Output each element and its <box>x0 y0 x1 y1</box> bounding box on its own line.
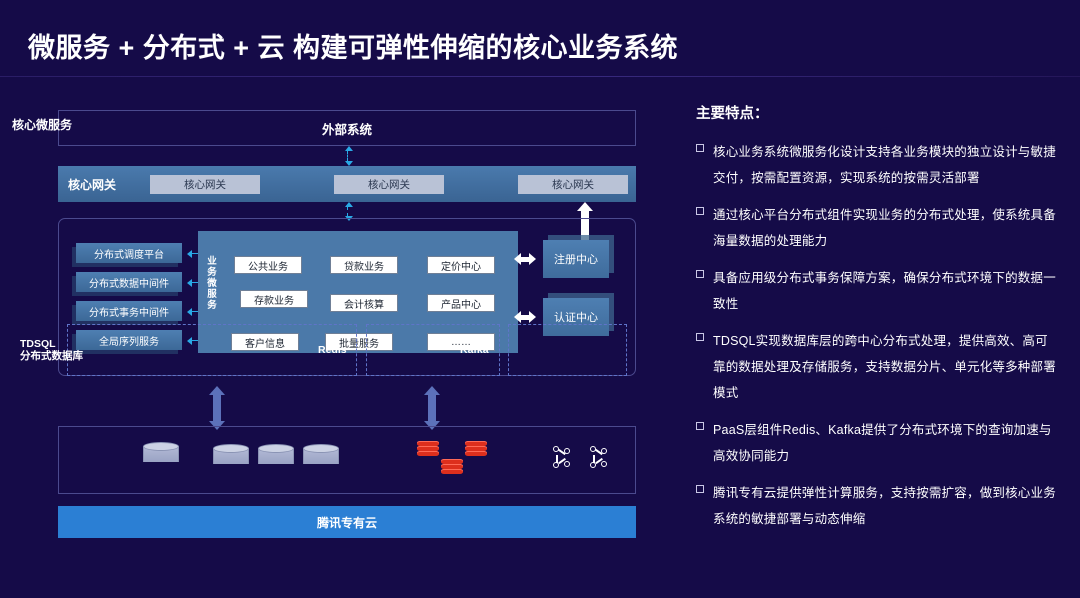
node-dot <box>590 446 596 452</box>
business-microservice-label: 业务微服务 <box>204 256 220 311</box>
cube-layer <box>441 469 463 474</box>
redis-cube-icon <box>417 441 439 461</box>
page-title: 微服务 + 分布式 + 云 构建可弹性伸缩的核心业务系统 <box>28 26 678 65</box>
service-card[interactable]: 产品中心 <box>427 294 495 312</box>
redis-label: Redis <box>318 344 347 356</box>
cylinder-top <box>303 444 339 453</box>
checkbox-bullet-icon <box>696 144 704 152</box>
checkbox-bullet-icon <box>696 485 704 493</box>
slide-canvas: 微服务 + 分布式 + 云 构建可弹性伸缩的核心业务系统 外部系统 核心网关 核… <box>0 0 1080 598</box>
service-card[interactable]: 会计核算 <box>330 294 398 312</box>
node-dot <box>590 462 596 468</box>
tdsql-label: TDSQL 分布式数据库 <box>20 338 83 362</box>
arrow-head-right <box>529 311 536 323</box>
arrow-to-auth-center <box>514 311 536 324</box>
external-systems-label: 外部系统 <box>322 119 372 138</box>
feature-item: TDSQL实现数据库层的跨中心分布式处理，提供高效、高可靠的数据处理及存储服务，… <box>696 328 1056 406</box>
features-title: 主要特点： <box>696 102 1056 123</box>
cylinder-top <box>143 442 179 451</box>
arrow-to-registry-center <box>514 253 536 266</box>
kafka-node-icon <box>589 446 611 472</box>
redis-cube-icon <box>465 441 487 461</box>
cube-layer <box>465 451 487 456</box>
feature-item: 具备应用级分布式事务保障方案，确保分布式环境下的数据一致性 <box>696 265 1056 317</box>
node-dot <box>601 461 607 467</box>
core-gateway-band-label: 核心网关 <box>68 176 146 193</box>
core-gateway-band: 核心网关 核心网关 核心网关 核心网关 <box>58 166 636 202</box>
kafka-label: Kafka <box>460 344 489 356</box>
external-systems-box: 外部系统 <box>58 110 636 146</box>
tdsql-box <box>67 324 357 376</box>
gateway-chip[interactable]: 核心网关 <box>334 175 444 194</box>
arrow-external-to-gateway <box>347 151 348 161</box>
checkbox-bullet-icon <box>696 333 704 341</box>
cylinder-top <box>258 444 294 453</box>
arrow-shaft <box>428 394 436 422</box>
side-component-box[interactable]: 分布式调度平台 <box>76 243 182 263</box>
database-cylinder-icon <box>258 444 294 468</box>
feature-text: 通过核心平台分布式组件实现业务的分布式处理，使系统具备海量数据的处理能力 <box>713 202 1056 254</box>
core-microservice-title: 核心微服务 <box>12 116 72 133</box>
feature-text: 核心业务系统微服务化设计支持各业务模块的独立设计与敏捷交付，按需配置资源，实现系… <box>713 139 1056 191</box>
arrow-gateway-to-microservice <box>347 207 348 216</box>
node-dot <box>564 461 570 467</box>
title-divider <box>0 76 1080 77</box>
tdsql-label-line2: 分布式数据库 <box>20 350 83 362</box>
service-card[interactable]: 公共业务 <box>234 256 302 274</box>
node-dot <box>564 448 570 454</box>
node-dot <box>553 462 559 468</box>
database-cylinder-icon <box>213 444 249 468</box>
service-card[interactable]: 贷款业务 <box>330 256 398 274</box>
feature-item: 通过核心平台分布式组件实现业务的分布式处理，使系统具备海量数据的处理能力 <box>696 202 1056 254</box>
kafka-box <box>508 324 627 376</box>
side-component-box[interactable]: 分布式事务中间件 <box>76 301 182 321</box>
node-dot <box>553 446 559 452</box>
feature-item: PaaS层组件Redis、Kafka提供了分布式环境下的查询加速与高效协同能力 <box>696 417 1056 469</box>
database-cylinder-icon <box>143 442 179 466</box>
cylinder-top <box>213 444 249 453</box>
service-card[interactable]: 定价中心 <box>427 256 495 274</box>
checkbox-bullet-icon <box>696 270 704 278</box>
checkbox-bullet-icon <box>696 422 704 430</box>
feature-text: 腾讯专有云提供弹性计算服务，支持按需扩容，做到核心业务系统的敏捷部署与动态伸缩 <box>713 480 1056 532</box>
service-card[interactable]: 存款业务 <box>240 290 308 308</box>
node-dot <box>601 448 607 454</box>
kafka-node-icon <box>552 446 574 472</box>
gateway-chip[interactable]: 核心网关 <box>150 175 260 194</box>
gateway-chip[interactable]: 核心网关 <box>518 175 628 194</box>
arrow-microservice-to-data <box>424 386 440 430</box>
redis-cube-icon <box>441 459 463 479</box>
features-panel: 主要特点： 核心业务系统微服务化设计支持各业务模块的独立设计与敏捷交付，按需配置… <box>696 102 1056 543</box>
database-cylinder-icon <box>303 444 339 468</box>
arrow-head-right <box>529 253 536 265</box>
registry-center-box[interactable]: 注册中心 <box>543 240 609 278</box>
checkbox-bullet-icon <box>696 207 704 215</box>
feature-text: TDSQL实现数据库层的跨中心分布式处理，提供高效、高可靠的数据处理及存储服务，… <box>713 328 1056 406</box>
feature-text: PaaS层组件Redis、Kafka提供了分布式环境下的查询加速与高效协同能力 <box>713 417 1056 469</box>
arrow-microservice-to-data <box>209 386 225 430</box>
feature-text: 具备应用级分布式事务保障方案，确保分布式环境下的数据一致性 <box>713 265 1056 317</box>
feature-item: 腾讯专有云提供弹性计算服务，支持按需扩容，做到核心业务系统的敏捷部署与动态伸缩 <box>696 480 1056 532</box>
tencent-cloud-bar[interactable]: 腾讯专有云 <box>58 506 636 538</box>
feature-item: 核心业务系统微服务化设计支持各业务模块的独立设计与敏捷交付，按需配置资源，实现系… <box>696 139 1056 191</box>
arrow-shaft <box>213 394 221 422</box>
cube-layer <box>417 451 439 456</box>
tdsql-label-line1: TDSQL <box>20 338 83 350</box>
side-component-box[interactable]: 分布式数据中间件 <box>76 272 182 292</box>
